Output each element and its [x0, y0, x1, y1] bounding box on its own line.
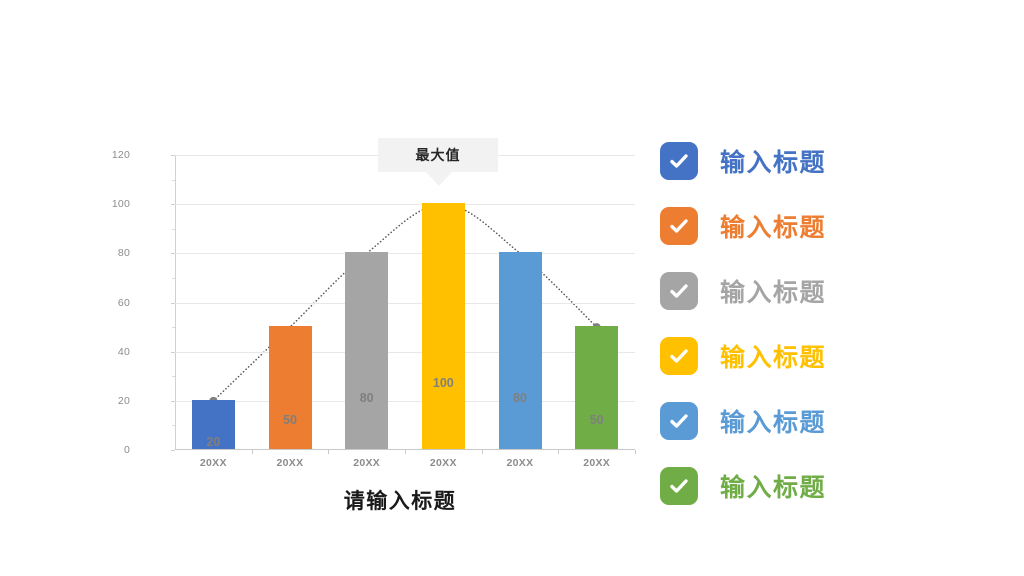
x-axis-tick-label: 20XX: [175, 457, 252, 469]
legend: 输入标题输入标题输入标题输入标题输入标题输入标题: [660, 128, 910, 518]
y-axis-tick-label: 40: [90, 346, 130, 358]
checkbox-checked-icon[interactable]: [660, 142, 698, 180]
legend-item[interactable]: 输入标题: [660, 453, 910, 518]
callout-pointer-icon: [426, 172, 452, 186]
checkbox-checked-icon[interactable]: [660, 467, 698, 505]
y-axis-tick-mark: [171, 401, 175, 402]
legend-item[interactable]: 输入标题: [660, 388, 910, 453]
x-axis-tick-mark: [558, 450, 559, 454]
x-axis-tick-label: 20XX: [405, 457, 482, 469]
bar-data-label: 80: [345, 391, 388, 405]
slide-canvas: 0204060801001202020XX5020XX8020XX10020XX…: [0, 0, 1024, 576]
x-axis-tick-mark: [328, 450, 329, 454]
y-axis-tick-label: 120: [90, 149, 130, 161]
legend-item[interactable]: 输入标题: [660, 193, 910, 258]
legend-item-label: 输入标题: [720, 143, 826, 179]
checkbox-checked-icon[interactable]: [660, 207, 698, 245]
y-axis-tick-mark: [171, 450, 175, 451]
y-axis-tick-label: 0: [90, 444, 130, 456]
legend-item[interactable]: 输入标题: [660, 258, 910, 323]
plot-area: 0204060801001202020XX5020XX8020XX10020XX…: [175, 155, 635, 450]
checkbox-checked-icon[interactable]: [660, 272, 698, 310]
gridline: [175, 303, 635, 304]
bar-data-label: 50: [269, 413, 312, 427]
y-axis-minor-tick: [172, 180, 175, 181]
y-axis-tick-mark: [171, 303, 175, 304]
y-axis-minor-tick: [172, 425, 175, 426]
legend-item-label: 输入标题: [720, 468, 826, 504]
bar-data-label: 50: [575, 413, 618, 427]
y-axis-tick-label: 60: [90, 297, 130, 309]
x-axis-tick-mark: [252, 450, 253, 454]
legend-item-label: 输入标题: [720, 403, 826, 439]
gridline: [175, 401, 635, 402]
chart-title: 请输入标题: [300, 485, 500, 515]
gridline: [175, 253, 635, 254]
bar-data-label: 80: [499, 391, 542, 405]
y-axis-minor-tick: [172, 376, 175, 377]
bar-data-label: 20: [192, 435, 235, 449]
y-axis-tick-mark: [171, 204, 175, 205]
bar[interactable]: [345, 252, 388, 449]
legend-item-label: 输入标题: [720, 273, 826, 309]
bar[interactable]: [575, 326, 618, 449]
legend-item[interactable]: 输入标题: [660, 128, 910, 193]
y-axis-tick-label: 100: [90, 198, 130, 210]
bar-data-label: 100: [422, 376, 465, 390]
x-axis-tick-mark: [405, 450, 406, 454]
x-axis-tick-label: 20XX: [482, 457, 559, 469]
x-axis-tick-label: 20XX: [328, 457, 405, 469]
y-axis-minor-tick: [172, 327, 175, 328]
x-axis-tick-mark: [482, 450, 483, 454]
x-axis-tick-mark: [635, 450, 636, 454]
y-axis-tick-mark: [171, 352, 175, 353]
bar[interactable]: [499, 252, 542, 449]
bar-chart: 0204060801001202020XX5020XX8020XX10020XX…: [138, 140, 648, 495]
checkbox-checked-icon[interactable]: [660, 337, 698, 375]
x-axis-tick-label: 20XX: [252, 457, 329, 469]
y-axis-minor-tick: [172, 229, 175, 230]
y-axis-tick-mark: [171, 155, 175, 156]
legend-item-label: 输入标题: [720, 208, 826, 244]
x-axis-tick-label: 20XX: [558, 457, 635, 469]
max-value-callout-label: 最大值: [416, 145, 461, 165]
checkbox-checked-icon[interactable]: [660, 402, 698, 440]
y-axis-tick-mark: [171, 253, 175, 254]
legend-item-label: 输入标题: [720, 338, 826, 374]
bar[interactable]: [269, 326, 312, 449]
y-axis-tick-label: 80: [90, 247, 130, 259]
y-axis-minor-tick: [172, 278, 175, 279]
bar[interactable]: [422, 203, 465, 449]
legend-item[interactable]: 输入标题: [660, 323, 910, 388]
max-value-callout: 最大值: [378, 138, 498, 172]
gridline: [175, 204, 635, 205]
y-axis-tick-label: 20: [90, 395, 130, 407]
gridline: [175, 352, 635, 353]
